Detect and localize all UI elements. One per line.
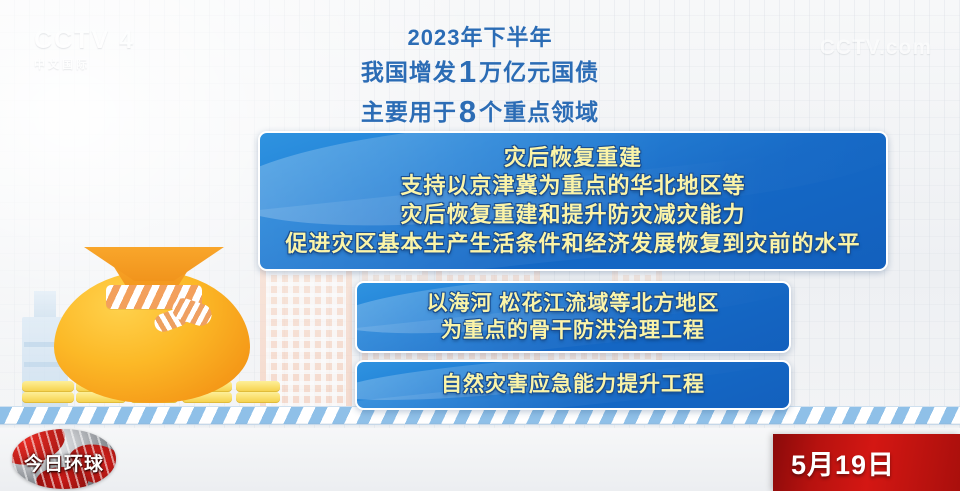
info-panel-flood-control: 以海河 松花江流域等北方地区 为重点的骨干防洪治理工程 <box>355 281 791 353</box>
headline-line-2-prefix: 我国增发 <box>361 59 457 85</box>
headline-line-2-suffix: 万亿元国债 <box>479 59 599 85</box>
headline-line-3: 主要用于8个重点领域 <box>0 92 960 132</box>
program-logo: 今日环球 <box>2 429 124 489</box>
headline-areas-number: 8 <box>457 94 479 129</box>
program-logo-text: 今日环球 <box>6 449 122 476</box>
headline-line-2: 我国增发1万亿元国债 <box>0 52 960 92</box>
panel-1-line-2: 灾后恢复重建和提升防灾减灾能力 <box>285 201 860 230</box>
coin <box>236 381 280 392</box>
money-bag-illustration <box>22 181 282 421</box>
headline-line-1: 2023年下半年 <box>0 24 960 52</box>
panel-2-text: 以海河 松花江流域等北方地区 为重点的骨干防洪治理工程 <box>427 290 720 345</box>
panel-2-line-1: 以海河 松花江流域等北方地区 <box>427 290 720 317</box>
panel-1-text: 灾后恢复重建 支持以京津冀为重点的华北地区等 灾后恢复重建和提升防灾减灾能力 促… <box>285 144 860 258</box>
panel-3-text: 自然灾害应急能力提升工程 <box>441 371 705 398</box>
headline-block: 2023年下半年 我国增发1万亿元国债 主要用于8个重点领域 <box>0 24 960 132</box>
panel-2-line-2: 为重点的骨干防洪治理工程 <box>427 317 720 344</box>
info-panel-disaster-recovery: 灾后恢复重建 支持以京津冀为重点的华北地区等 灾后恢复重建和提升防灾减灾能力 促… <box>258 131 888 271</box>
date-badge: 5月19日 <box>773 434 960 491</box>
broadcast-graphic-screen: CCTV 4 中文国际 CCTV.com 2023年下半年 我国增发1万亿元国债… <box>0 0 960 491</box>
info-panel-emergency-capacity: 自然灾害应急能力提升工程 <box>355 360 791 410</box>
money-bag-opening <box>84 247 224 281</box>
coin <box>22 381 74 392</box>
coin <box>236 392 280 403</box>
panel-1-heading: 灾后恢复重建 <box>285 144 860 173</box>
coin <box>22 392 74 403</box>
panel-1-line-3: 促进灾区基本生产生活条件和经济发展恢复到灾前的水平 <box>285 230 860 259</box>
panel-3-line-1: 自然灾害应急能力提升工程 <box>441 371 705 398</box>
headline-line-3-prefix: 主要用于 <box>361 99 457 125</box>
headline-line-3-suffix: 个重点领域 <box>479 99 599 125</box>
panel-1-line-1: 支持以京津冀为重点的华北地区等 <box>285 172 860 201</box>
headline-amount-number: 1 <box>457 54 479 89</box>
date-badge-text: 5月19日 <box>791 443 895 482</box>
